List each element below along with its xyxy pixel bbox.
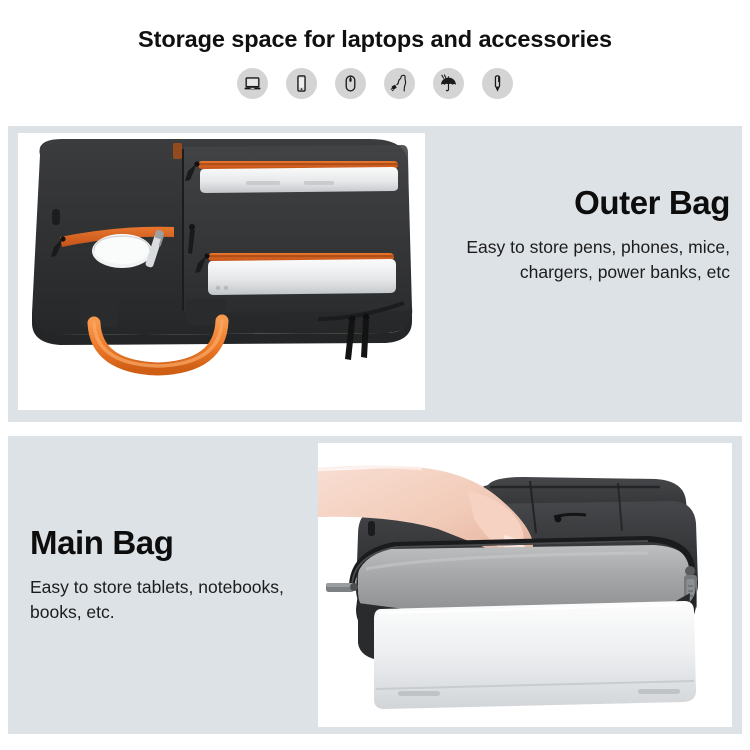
umbrella-icon	[433, 68, 464, 99]
feature-icon-row	[0, 68, 750, 99]
top-right-pocket	[185, 161, 398, 193]
phone-icon	[286, 68, 317, 99]
header: Storage space for laptops and accessorie…	[0, 0, 750, 118]
pen-icon	[482, 68, 513, 99]
mouse-icon	[335, 68, 366, 99]
main-bag-body: Easy to store tablets, notebooks, books,…	[30, 575, 310, 625]
page-title: Storage space for laptops and accessorie…	[0, 26, 750, 53]
laptop-icon	[237, 68, 268, 99]
main-bag-title: Main Bag	[30, 526, 310, 561]
outer-bag-panel: Outer Bag Easy to store pens, phones, mi…	[8, 126, 742, 422]
main-bag-illustration	[318, 443, 732, 727]
outer-bag-illustration	[18, 133, 425, 410]
main-bag-caption: Main Bag Easy to store tablets, notebook…	[30, 526, 310, 625]
outer-bag-body: Easy to store pens, phones, mice, charge…	[438, 235, 730, 285]
outer-bag-caption: Outer Bag Easy to store pens, phones, mi…	[438, 186, 730, 285]
laptop	[374, 601, 696, 709]
charger-icon	[384, 68, 415, 99]
outer-bag-photo	[18, 133, 425, 410]
main-bag-panel: Main Bag Easy to store tablets, notebook…	[8, 436, 742, 734]
main-bag-photo	[318, 443, 732, 727]
outer-bag-title: Outer Bag	[438, 186, 730, 221]
